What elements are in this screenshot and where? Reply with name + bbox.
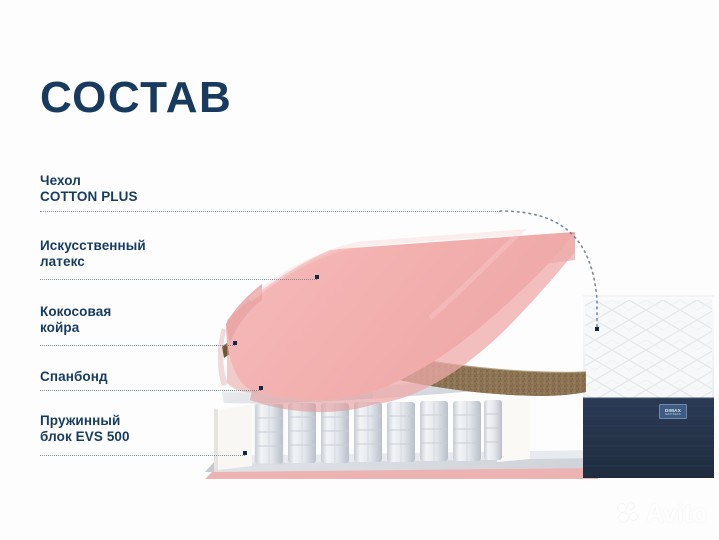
leader-line-spunbond xyxy=(40,390,261,392)
leader-line-coir xyxy=(40,345,235,347)
avito-watermark: Avito xyxy=(618,500,707,526)
page-title: СОСТАВ xyxy=(40,76,232,120)
leader-dot-spunbond xyxy=(259,386,263,390)
avito-wordmark: Avito xyxy=(645,500,707,526)
mattress-cover-quilted xyxy=(583,296,714,398)
layer-label-spunbond: Спанбонд xyxy=(40,369,108,385)
leader-dot-spring-block xyxy=(243,451,247,455)
leader-dot-latex xyxy=(315,275,319,279)
brand-tag: DIMAX MATTRESS xyxy=(659,404,687,419)
leader-line-cover xyxy=(40,211,500,213)
leader-line-spring-block xyxy=(40,455,245,457)
layer-label-spring-block: Пружинный блок EVS 500 xyxy=(40,413,130,445)
layer-label-latex: Искусственный латекс xyxy=(40,238,146,270)
leader-dot-coir xyxy=(233,341,237,345)
poster-canvas: СОСТАВ Чехол COTTON PLUS Искусственный л… xyxy=(0,0,719,540)
leader-dot-cover xyxy=(595,327,599,331)
brand-tag-line2: MATTRESS xyxy=(665,413,681,416)
mattress-side-panel xyxy=(583,397,714,478)
layer-label-cover: Чехол COTTON PLUS xyxy=(40,173,138,205)
leader-line-latex xyxy=(40,279,317,281)
layer-label-coir: Кокосовая койра xyxy=(40,304,111,336)
avito-dots-icon xyxy=(618,503,640,523)
